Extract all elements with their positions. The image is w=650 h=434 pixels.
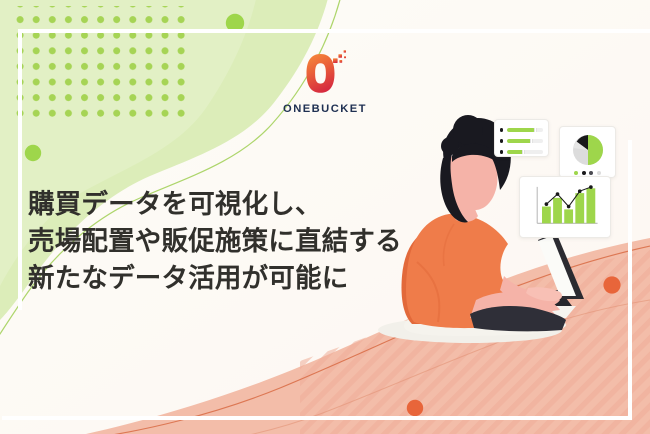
logo-pixel-squares xyxy=(333,50,346,63)
bullet-dot-icon xyxy=(500,150,503,153)
legend-dot-light-gray xyxy=(597,171,601,175)
bullet-dot-icon xyxy=(500,128,503,131)
progress-knob xyxy=(534,128,537,133)
pie-legend xyxy=(565,171,610,175)
list-item xyxy=(500,148,543,156)
frame-border-bottom-horizontal xyxy=(2,416,632,420)
pie-chart-card xyxy=(559,126,616,178)
progress-knob xyxy=(522,150,525,155)
bullet-dot-icon xyxy=(500,139,503,142)
legend-dot-black xyxy=(582,171,586,175)
progress-track xyxy=(507,150,543,155)
brand-wordmark: ONEBUCKET xyxy=(265,104,385,115)
list-item xyxy=(500,126,543,134)
headline-line-2: 売場配置や販促施策に直結する xyxy=(28,223,402,260)
progress-fill xyxy=(507,139,531,144)
progress-fill xyxy=(507,128,535,133)
brand-logo: ONEBUCKET xyxy=(265,48,385,115)
trend-line xyxy=(546,187,590,206)
progress-track xyxy=(507,128,543,133)
progress-knob xyxy=(530,139,533,144)
progress-fill xyxy=(507,150,523,155)
headline-line-1: 購買データを可視化し、 xyxy=(28,186,402,223)
bar-chart xyxy=(528,184,602,230)
frame-border-top-left-vertical xyxy=(18,29,22,310)
pie-chart xyxy=(570,132,606,168)
progress-track xyxy=(507,139,543,144)
list-item xyxy=(500,137,543,145)
hair-bun xyxy=(453,115,483,145)
hero-banner: ONEBUCKET 購買データを可視化し、 売場配置や販促施策に直結する 新たな… xyxy=(0,0,650,434)
frame-border-top-horizontal xyxy=(18,29,650,33)
progress-list-card xyxy=(494,119,549,157)
bar-chart-card xyxy=(519,176,611,238)
headline-line-3: 新たなデータ活用が可能に xyxy=(28,260,402,297)
pie-slice-green xyxy=(588,135,603,165)
frame-border-bottom-right-vertical xyxy=(628,140,632,420)
legend-dot-dark-gray xyxy=(589,171,593,175)
headline: 購買データを可視化し、 売場配置や販促施策に直結する 新たなデータ活用が可能に xyxy=(28,186,402,297)
onebucket-o-pixel-logo-icon xyxy=(302,48,348,98)
legend-dot-green xyxy=(574,171,578,175)
